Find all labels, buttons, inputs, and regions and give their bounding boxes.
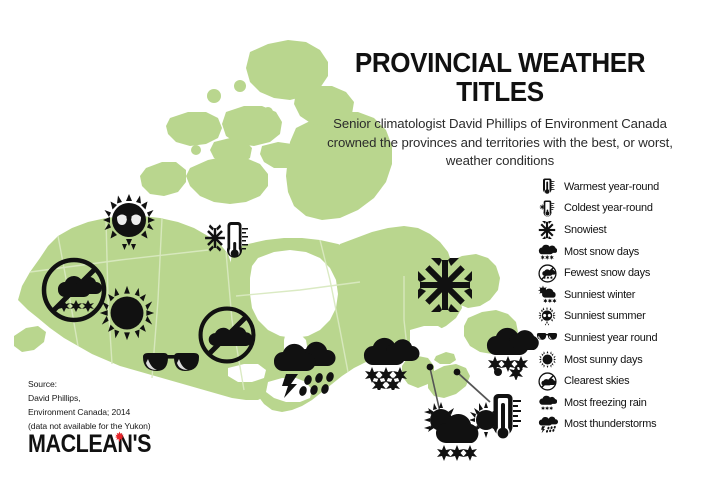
sun-sunglasses-icon — [534, 306, 560, 327]
map-marker-northern-quebec[interactable] — [418, 258, 472, 312]
sun-icon — [534, 349, 560, 370]
sunglasses-icon — [140, 348, 202, 382]
map-marker-saskatchewan[interactable] — [140, 348, 202, 382]
legend-label: Snowiest — [564, 224, 606, 236]
map-marker-ontario[interactable] — [268, 332, 340, 398]
legend-item-snowiest[interactable]: Snowiest — [534, 219, 706, 241]
infographic-canvas: PROVINCIAL WEATHER TITLES Senior climato… — [0, 0, 708, 500]
map-marker-nova-scotia[interactable] — [470, 386, 530, 448]
cloud-thunderstorm-icon — [268, 332, 340, 398]
cloud-thunderstorm-icon — [534, 414, 560, 435]
page-subtitle: Senior climatologist David Phillips of E… — [320, 115, 680, 171]
map-marker-manitoba[interactable] — [196, 304, 258, 366]
snowflake-icon — [418, 258, 472, 312]
sun-cloud-snow-icon — [534, 284, 560, 305]
map-marker-northwest-territories[interactable] — [97, 190, 161, 254]
legend-label: Most freezing rain — [564, 397, 647, 409]
legend-item-most-snow-days[interactable]: Most snow days — [534, 241, 706, 263]
legend-item-most-sunny-days[interactable]: Most sunny days — [534, 349, 706, 371]
legend-item-clearest-skies[interactable]: Clearest skies — [534, 370, 706, 392]
cloud-freezing-rain-icon — [534, 392, 560, 413]
legend-label: Sunniest summer — [564, 310, 645, 322]
legend-item-coldest-year-round[interactable]: Coldest year-round — [534, 198, 706, 220]
legend-label: Coldest year-round — [564, 202, 653, 214]
legend-item-most-thunderstorms[interactable]: Most thunderstorms — [534, 414, 706, 436]
legend-item-sunniest-winter[interactable]: Sunniest winter — [534, 284, 706, 306]
map-marker-alberta[interactable] — [96, 282, 158, 344]
source-note: Source: David Phillips, Environment Cana… — [28, 378, 208, 434]
maple-leaf-icon — [114, 431, 125, 442]
legend-label: Most thunderstorms — [564, 418, 656, 430]
macleans-wordmark: MACLEAN'S — [28, 432, 151, 457]
source-line-3: Environment Canada; 2014 — [28, 406, 208, 420]
snowflake-icon — [534, 219, 560, 240]
legend-label: Sunniest winter — [564, 289, 635, 301]
legend-label: Most snow days — [564, 246, 639, 258]
source-line-2: David Phillips, — [28, 392, 208, 406]
page-title: PROVINCIAL WEATHER TITLES — [314, 48, 686, 107]
map-marker-quebec[interactable] — [358, 330, 420, 390]
macleans-logo[interactable]: MACLEAN'S — [28, 432, 171, 457]
legend-item-sunniest-year-round[interactable]: Sunniest year round — [534, 327, 706, 349]
no-cloud-snow-icon — [534, 263, 560, 284]
no-cloud-icon — [534, 371, 560, 392]
legend-label: Most sunny days — [564, 354, 642, 366]
legend-label: Sunniest year round — [564, 332, 657, 344]
legend-item-most-freezing-rain[interactable]: Most freezing rain — [534, 392, 706, 414]
legend-item-warmest-year-round[interactable]: Warmest year-round — [534, 176, 706, 198]
cloud-snow-icon — [534, 241, 560, 262]
thermometer-hot-icon — [534, 176, 560, 197]
legend-label: Clearest skies — [564, 375, 629, 387]
legend-label: Fewest snow days — [564, 267, 650, 279]
thermometer-hot-icon — [470, 386, 530, 448]
no-cloud-icon — [196, 304, 258, 366]
legend-item-fewest-snow-days[interactable]: Fewest snow days — [534, 262, 706, 284]
legend-item-sunniest-summer[interactable]: Sunniest summer — [534, 306, 706, 328]
header: PROVINCIAL WEATHER TITLES Senior climato… — [300, 48, 700, 171]
map-marker-nunavut[interactable] — [205, 216, 251, 264]
sun-icon — [96, 282, 158, 344]
thermometer-cold-icon — [534, 198, 560, 219]
source-line-1: Source: — [28, 378, 208, 392]
sun-sunglasses-icon — [97, 190, 161, 254]
legend: Warmest year-round Coldest year-round — [534, 176, 706, 435]
sunglasses-icon — [534, 327, 560, 348]
cloud-snow-icon — [358, 330, 420, 390]
legend-label: Warmest year-round — [564, 181, 659, 193]
thermometer-cold-icon — [205, 216, 251, 264]
